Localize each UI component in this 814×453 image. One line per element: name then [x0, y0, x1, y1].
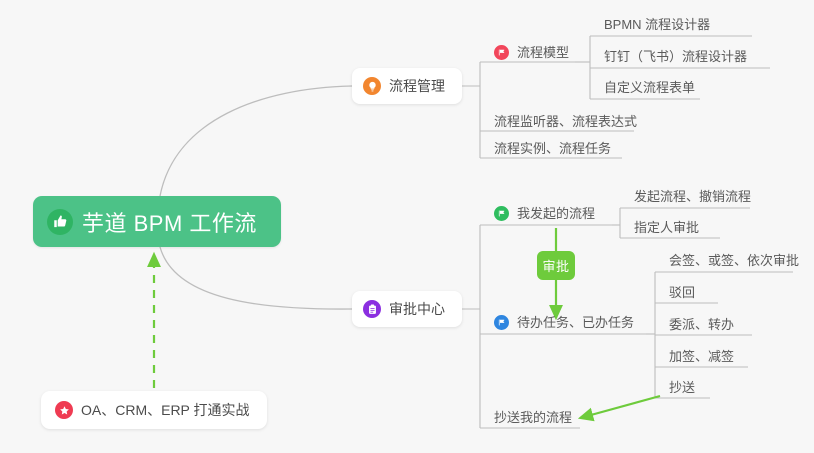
- node-reject[interactable]: 驳回: [663, 281, 701, 303]
- node-my-initiated-label: 我发起的流程: [517, 207, 595, 220]
- node-assignee-approval[interactable]: 指定人审批: [628, 216, 705, 238]
- star-icon: [55, 401, 73, 419]
- node-delegate-transfer-label: 委派、转办: [669, 318, 734, 331]
- node-countersign[interactable]: 会签、或签、依次审批: [663, 249, 805, 271]
- branch-approval-center[interactable]: 审批中心: [352, 291, 462, 327]
- root-node[interactable]: 芋道 BPM 工作流: [33, 196, 281, 247]
- node-my-initiated[interactable]: 我发起的流程: [488, 202, 601, 224]
- node-instance-task[interactable]: 流程实例、流程任务: [488, 137, 617, 159]
- node-todo-done-tasks-label: 待办任务、已办任务: [517, 316, 634, 329]
- flag-icon-green: [494, 206, 509, 221]
- node-process-model-label: 流程模型: [517, 46, 569, 59]
- clipboard-icon: [363, 300, 381, 318]
- node-integration-practice-label: OA、CRM、ERP 打通实战: [81, 400, 250, 420]
- node-listener-expression-label: 流程监听器、流程表达式: [494, 115, 637, 128]
- flag-icon-red: [494, 45, 509, 60]
- branch-approval-center-label: 审批中心: [389, 299, 445, 319]
- node-cc-label: 抄送: [669, 381, 695, 394]
- node-custom-process-form-label: 自定义流程表单: [604, 81, 695, 94]
- mindmap-canvas: 芋道 BPM 工作流 流程管理 审批中心: [0, 0, 814, 453]
- approve-badge: 审批: [537, 251, 575, 280]
- node-cc[interactable]: 抄送: [663, 376, 701, 398]
- node-process-model[interactable]: 流程模型: [488, 41, 575, 63]
- link-root-to-approval-center: [160, 247, 352, 309]
- node-add-remove-sign-label: 加签、减签: [669, 350, 734, 363]
- node-custom-process-form[interactable]: 自定义流程表单: [598, 76, 701, 98]
- node-reject-label: 驳回: [669, 286, 695, 299]
- branch-process-management[interactable]: 流程管理: [352, 68, 462, 104]
- node-dingtalk-feishu-designer-label: 钉钉（飞书）流程设计器: [604, 50, 747, 63]
- node-dingtalk-feishu-designer[interactable]: 钉钉（飞书）流程设计器: [598, 45, 753, 67]
- node-add-remove-sign[interactable]: 加签、减签: [663, 345, 740, 367]
- node-delegate-transfer[interactable]: 委派、转办: [663, 313, 740, 335]
- node-listener-expression[interactable]: 流程监听器、流程表达式: [488, 110, 643, 132]
- lightbulb-icon: [363, 77, 381, 95]
- flag-icon-blue: [494, 315, 509, 330]
- node-start-cancel[interactable]: 发起流程、撤销流程: [628, 185, 757, 207]
- link-root-to-process-management: [160, 86, 352, 196]
- node-cc-to-me-label: 抄送我的流程: [494, 411, 572, 424]
- node-start-cancel-label: 发起流程、撤销流程: [634, 190, 751, 203]
- node-cc-to-me[interactable]: 抄送我的流程: [488, 406, 578, 428]
- node-instance-task-label: 流程实例、流程任务: [494, 142, 611, 155]
- thumbs-up-icon: [47, 209, 73, 235]
- node-bpmn-designer-label: BPMN 流程设计器: [604, 18, 710, 31]
- node-integration-practice[interactable]: OA、CRM、ERP 打通实战: [41, 391, 267, 429]
- node-countersign-label: 会签、或签、依次审批: [669, 254, 799, 267]
- arrow-cc-to-cc-to-me: [580, 396, 660, 418]
- branch-process-management-label: 流程管理: [389, 76, 445, 96]
- node-assignee-approval-label: 指定人审批: [634, 221, 699, 234]
- root-label: 芋道 BPM 工作流: [82, 206, 257, 238]
- node-bpmn-designer[interactable]: BPMN 流程设计器: [598, 13, 716, 35]
- node-todo-done-tasks[interactable]: 待办任务、已办任务: [488, 311, 640, 333]
